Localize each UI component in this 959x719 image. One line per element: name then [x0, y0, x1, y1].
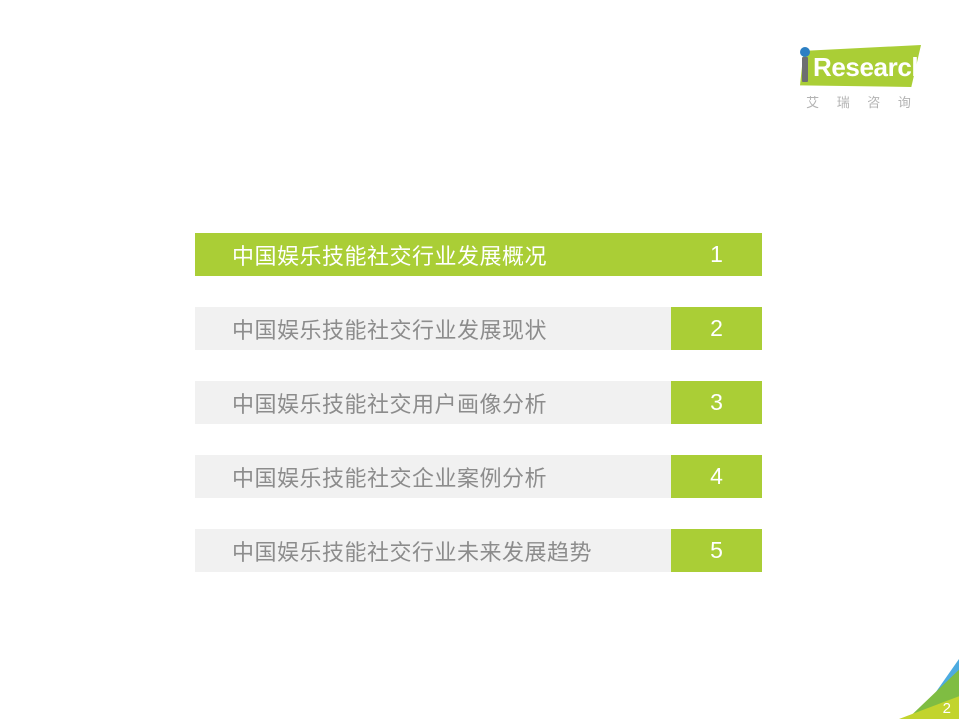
corner-decoration: 2: [899, 659, 959, 719]
table-of-contents: 中国娱乐技能社交行业发展概况 1 中国娱乐技能社交行业发展现状 2 中国娱乐技能…: [195, 233, 762, 572]
toc-row-number: 3: [671, 381, 762, 424]
toc-row-number: 4: [671, 455, 762, 498]
toc-row-label: 中国娱乐技能社交行业发展概况: [195, 233, 671, 276]
logo-letter-i-dot-icon: [800, 47, 810, 57]
toc-row-label: 中国娱乐技能社交行业发展现状: [195, 307, 671, 350]
toc-row-number: 1: [671, 233, 762, 276]
toc-row[interactable]: 中国娱乐技能社交企业案例分析 4: [195, 455, 762, 498]
toc-row-number: 2: [671, 307, 762, 350]
toc-row-label: 中国娱乐技能社交行业未来发展趋势: [195, 529, 671, 572]
toc-row-label: 中国娱乐技能社交用户画像分析: [195, 381, 671, 424]
toc-row[interactable]: 中国娱乐技能社交行业未来发展趋势 5: [195, 529, 762, 572]
logo-wordmark: Research: [813, 50, 923, 84]
iresearch-logo: Research 艾 瑞 咨 询: [783, 40, 923, 120]
page-number: 2: [943, 701, 951, 716]
toc-row[interactable]: 中国娱乐技能社交用户画像分析 3: [195, 381, 762, 424]
toc-row-number: 5: [671, 529, 762, 572]
toc-row-label: 中国娱乐技能社交企业案例分析: [195, 455, 671, 498]
logo-subtitle: 艾 瑞 咨 询: [801, 92, 923, 111]
logo-letter-i-stem: [802, 57, 808, 82]
toc-row[interactable]: 中国娱乐技能社交行业发展概况 1: [195, 233, 762, 276]
toc-row[interactable]: 中国娱乐技能社交行业发展现状 2: [195, 307, 762, 350]
slide-canvas: Research 艾 瑞 咨 询 中国娱乐技能社交行业发展概况 1 中国娱乐技能…: [0, 0, 959, 719]
